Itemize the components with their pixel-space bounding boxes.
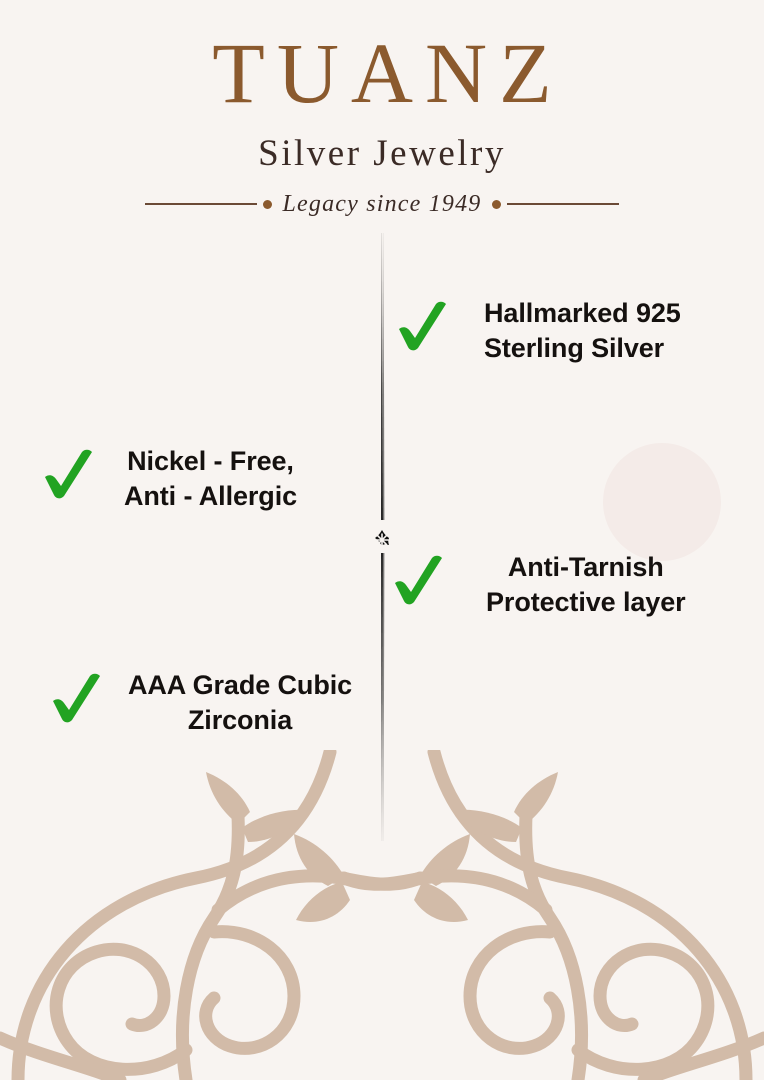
poster-canvas: TUANZ Silver Jewelry Legacy since 1949 (0, 0, 764, 1080)
green-check-icon (392, 554, 446, 606)
legacy-rule-left (145, 203, 257, 205)
feature-label-hallmarked: Hallmarked 925 Sterling Silver (484, 296, 681, 366)
feature-item-hallmarked: Hallmarked 925 Sterling Silver (396, 296, 681, 366)
soft-circle-decoration (603, 443, 721, 561)
feature-item-tarnish: Anti-Tarnish Protective layer (392, 550, 686, 620)
feature-item-zirconia: AAA Grade Cubic Zirconia (50, 668, 352, 738)
legacy-text: Legacy since 1949 (278, 191, 485, 218)
legacy-divider-row: Legacy since 1949 (0, 191, 764, 218)
green-check-icon (50, 672, 104, 724)
feature-item-nickel: Nickel - Free, Anti - Allergic (42, 444, 297, 514)
feature-label-tarnish: Anti-Tarnish Protective layer (486, 550, 686, 620)
green-check-icon (42, 448, 96, 500)
brand-name: TUANZ (0, 30, 764, 118)
green-check-icon (396, 300, 450, 352)
dot-icon-right (492, 200, 501, 209)
feature-label-zirconia: AAA Grade Cubic Zirconia (128, 668, 352, 738)
logo-block: TUANZ Silver Jewelry Legacy since 1949 (0, 30, 764, 218)
legacy-rule-right (507, 203, 619, 205)
brand-tagline: Silver Jewelry (0, 132, 764, 175)
dot-icon-left (263, 200, 272, 209)
feature-label-nickel: Nickel - Free, Anti - Allergic (124, 444, 297, 514)
